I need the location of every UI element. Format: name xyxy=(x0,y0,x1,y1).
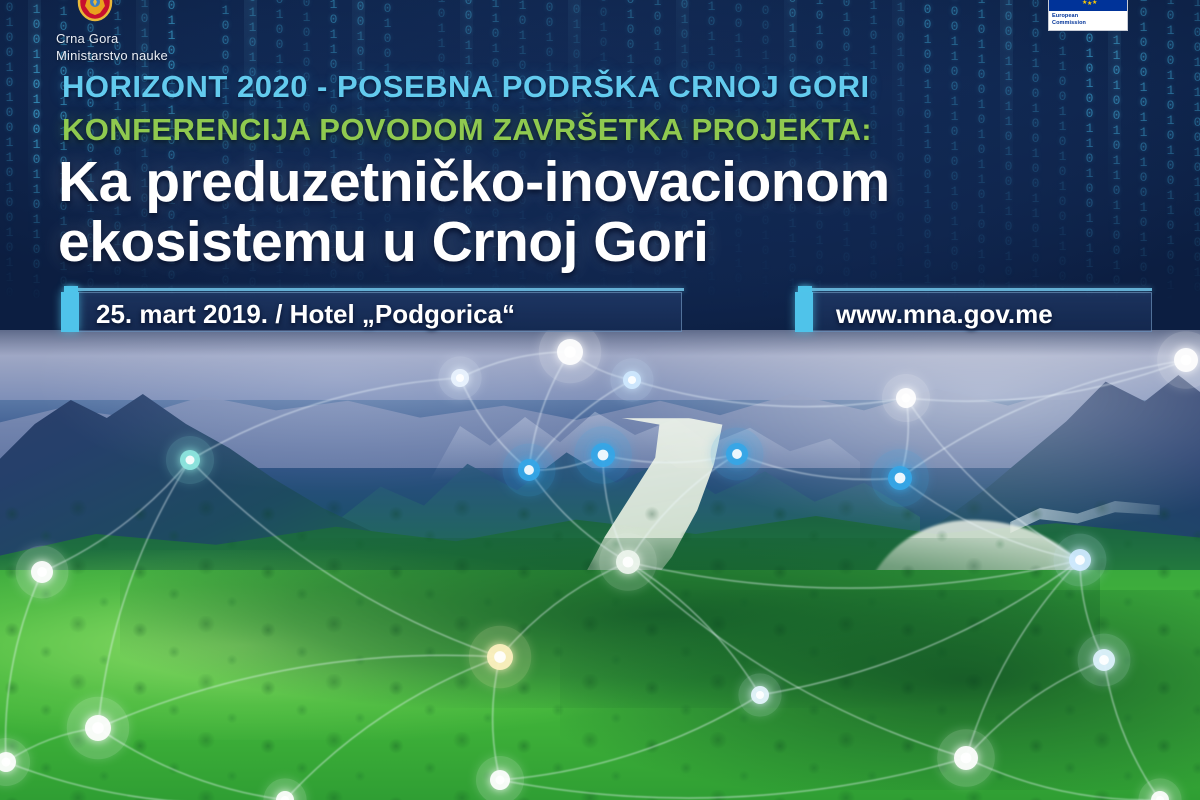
montenegro-ministry-logo: Crna Gora Ministarstvo nauke xyxy=(56,0,256,64)
sub-eyebrow-heading: KONFERENCIJA POVODOM ZAVRŠETKA PROJEKTA: xyxy=(62,112,872,148)
eyebrow-heading: HORIZONT 2020 - POSEBNA PODRŠKA CRNOJ GO… xyxy=(62,69,870,105)
european-commission-caption: European Commission xyxy=(1049,11,1127,30)
website-accent-bar xyxy=(795,292,813,332)
title-line-2: ekosistemu u Crnoj Gori xyxy=(58,212,1158,272)
page-title: Ka preduzetničko-inovacionom ekosistemu … xyxy=(58,152,1158,272)
divider-line-right xyxy=(800,288,1152,291)
ministry-label: Ministarstvo nauke xyxy=(56,47,256,64)
country-name: Crna Gora xyxy=(56,30,256,47)
landscape-photo xyxy=(0,330,1200,800)
conference-poster: 0 1 0 0 1 0 1 0 0 1 1 0 1 0 0 1 0 1 1 0 … xyxy=(0,0,1200,800)
divider-line-left xyxy=(66,288,684,291)
eu-star-icon: ★ xyxy=(1078,0,1082,1)
date-accent-bar xyxy=(61,292,79,332)
european-commission-logo: ★★★★★★★★★★★★ European Commission xyxy=(1048,0,1128,31)
eu-star-icon: ★ xyxy=(1087,2,1091,6)
title-line-1: Ka preduzetničko-inovacionom xyxy=(58,150,890,214)
eu-caption-line1: European xyxy=(1052,13,1124,20)
website-link[interactable]: www.mna.gov.me xyxy=(836,299,1053,330)
eu-star-icon: ★ xyxy=(1092,1,1096,5)
montenegro-coat-of-arms-icon xyxy=(72,0,118,28)
date-venue-text: 25. mart 2019. / Hotel „Podgorica“ xyxy=(96,299,515,330)
eu-caption-line2: Commission xyxy=(1052,20,1124,27)
landscape-top-fade xyxy=(0,330,1200,356)
ministry-name: Crna Gora Ministarstvo nauke xyxy=(56,30,256,64)
european-union-flag-icon: ★★★★★★★★★★★★ xyxy=(1049,0,1127,11)
forest-canopy-texture xyxy=(0,500,1200,800)
